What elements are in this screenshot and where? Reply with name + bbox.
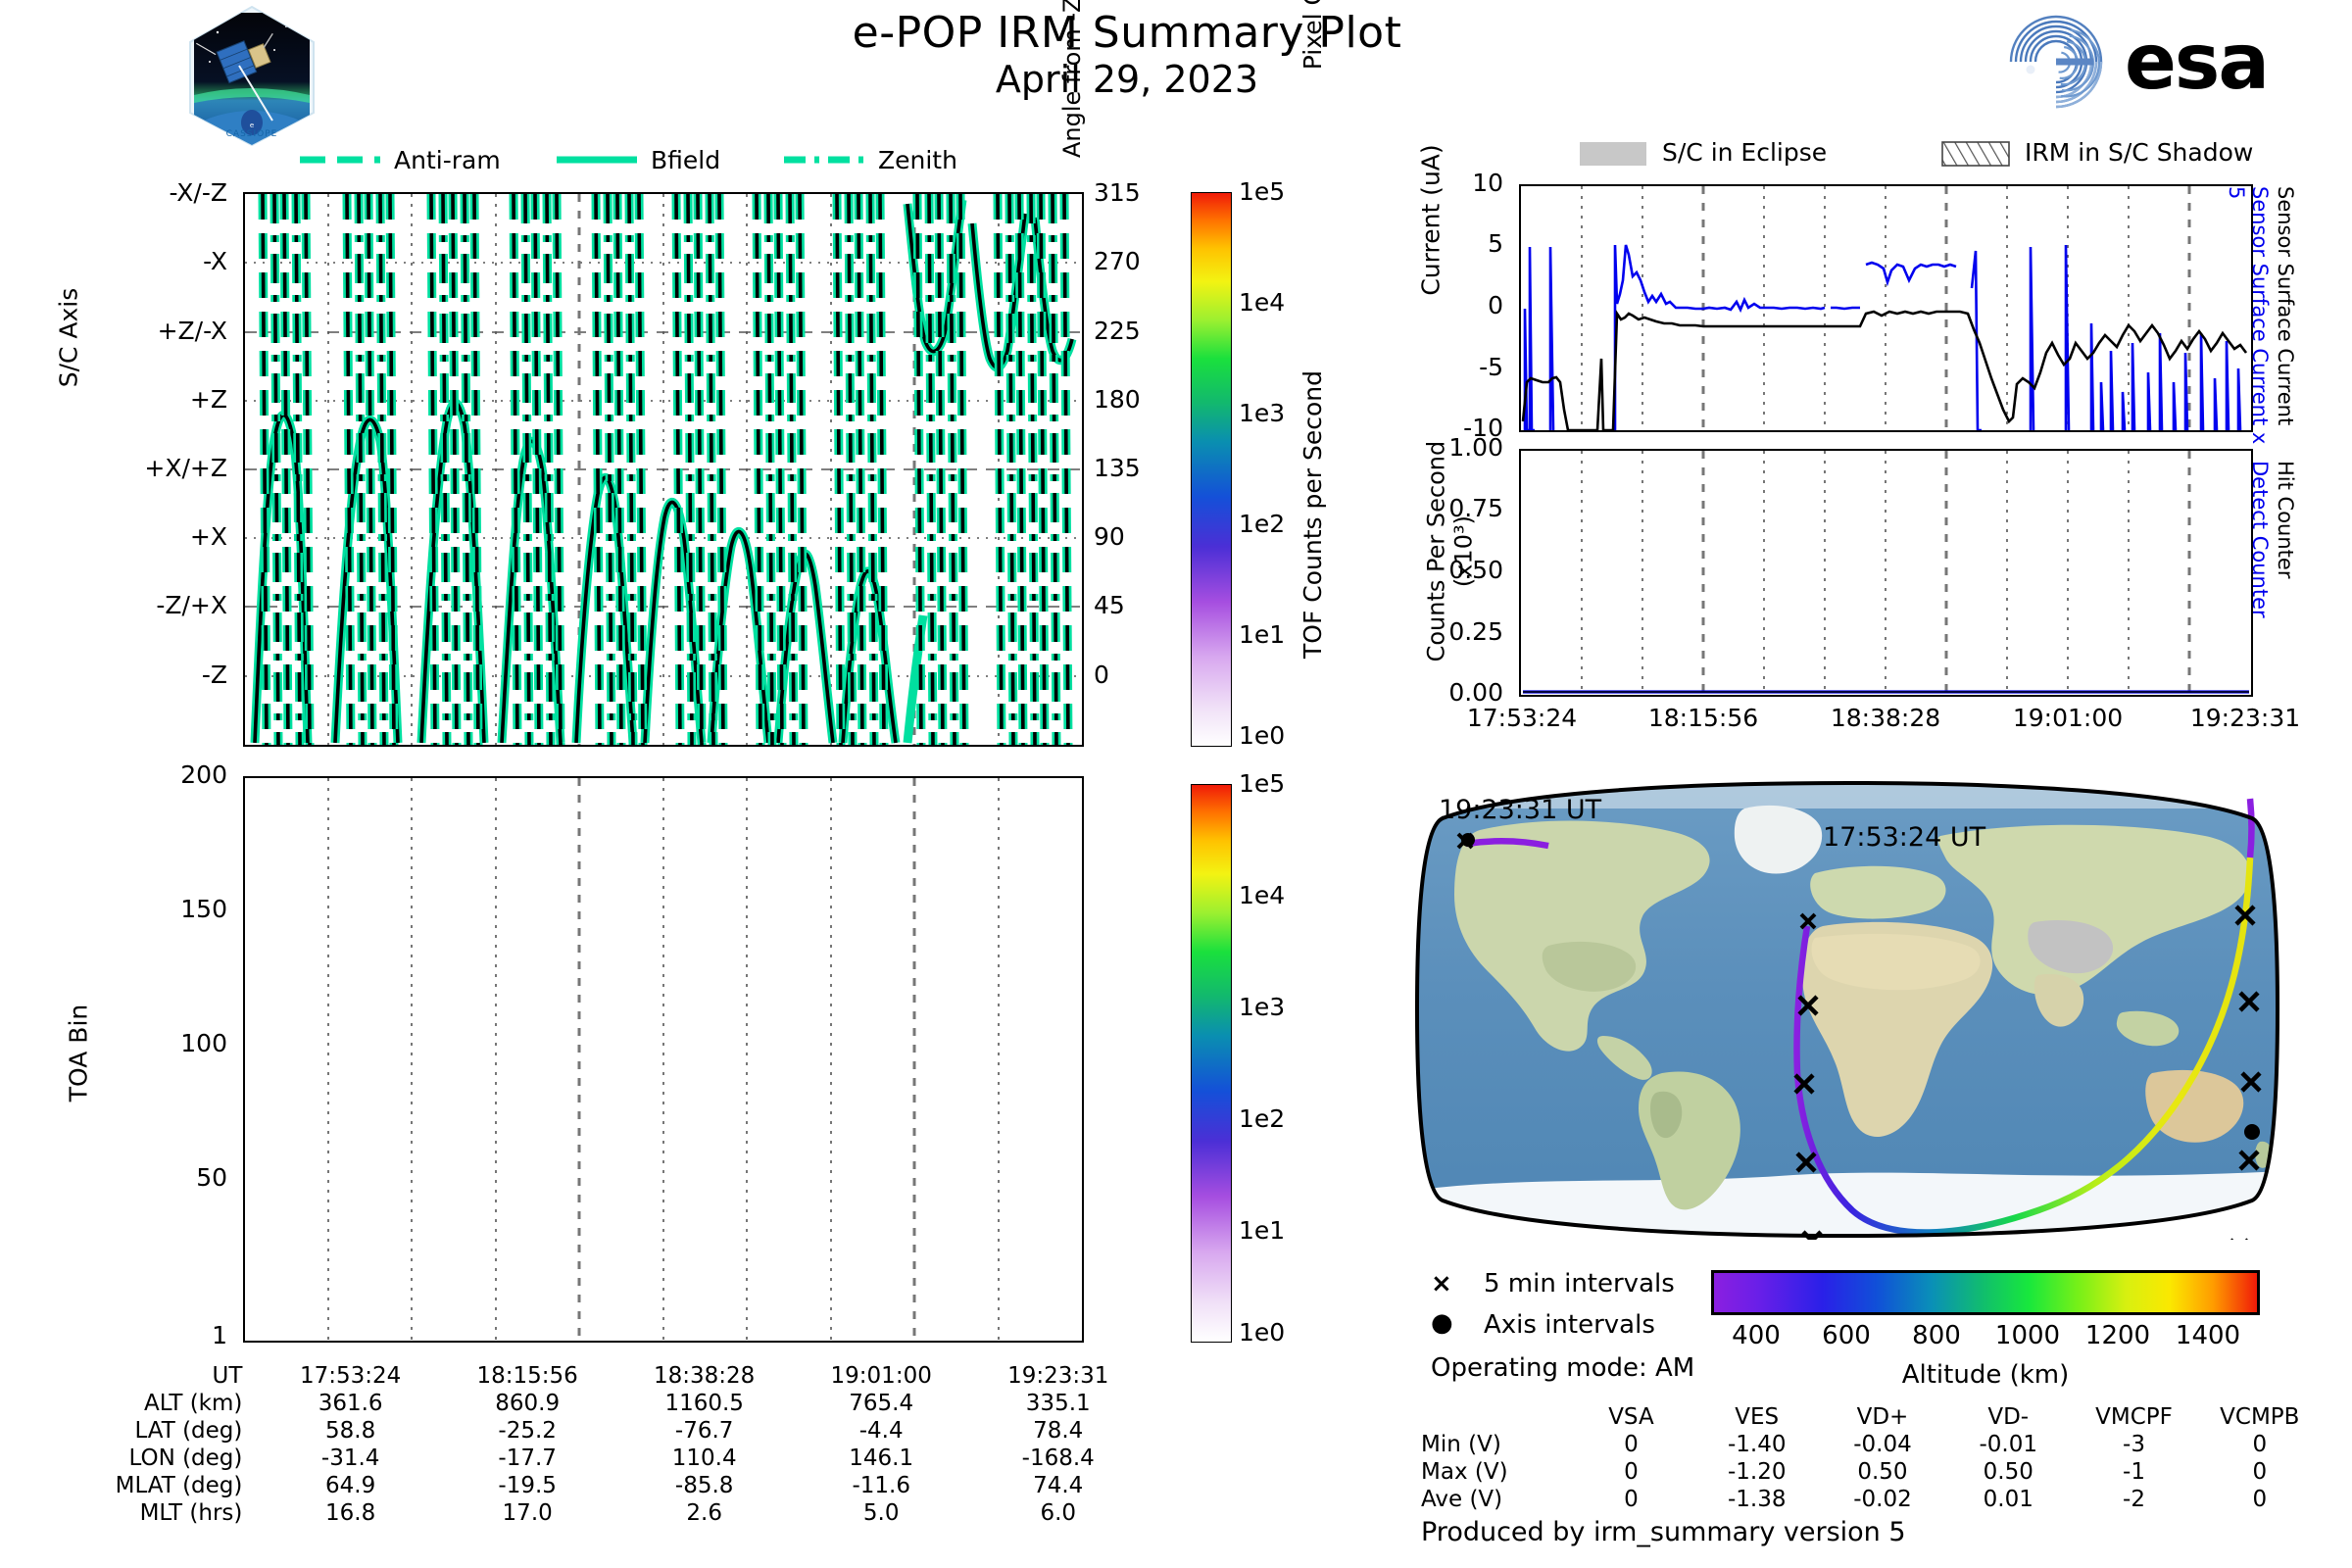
colorbar-tof-ticks: 1e5 1e4 1e3 1e2 1e1 1e0	[1239, 784, 1327, 1343]
cell: 19:01:00	[793, 1362, 970, 1390]
five-min-legend-label: 5 min intervals	[1484, 1269, 1675, 1298]
cell: -19.5	[439, 1472, 616, 1499]
ytick-sc-5: +X	[190, 522, 227, 551]
axis-interval-legend-label: Axis intervals	[1484, 1310, 1655, 1340]
panel-sc-axis-plot	[243, 192, 1084, 747]
ytick-angle-0: 315	[1094, 178, 1141, 207]
panel-current-right-label-blue: Sensor Surface Current x 5	[2225, 186, 2272, 461]
voltage-table: VSA VES VD+ VD- VMCPF VCMPB Min (V) 0 -1…	[1421, 1403, 2323, 1513]
cell: 6.0	[969, 1499, 1147, 1527]
ytick-angle-2: 225	[1094, 317, 1141, 345]
row-label: Min (V)	[1421, 1431, 1568, 1458]
cell: 0	[2197, 1458, 2323, 1486]
cell: -1.20	[1694, 1458, 1820, 1486]
row-label: Max (V)	[1421, 1458, 1568, 1486]
panel-counts-yticks: 1.00 0.75 0.50 0.25 0.00	[1401, 449, 1511, 697]
table-row: Ave (V) 0 -1.38 -0.02 0.01 -2 0	[1421, 1486, 2323, 1513]
current-traces	[1521, 186, 2251, 430]
table-row: Min (V) 0 -1.40 -0.04 -0.01 -3 0	[1421, 1431, 2323, 1458]
ytick-cnt-1: 0.75	[1448, 494, 1503, 522]
ytick-angle-4: 135	[1094, 454, 1141, 482]
cell: 765.4	[793, 1390, 970, 1417]
cbtick-tof-2: 1e3	[1239, 993, 1285, 1021]
panel-sc-axis-yticks-right: 315 270 225 180 135 90 45 0	[1094, 192, 1182, 747]
panel-counts-right-label-blue: Detect Counter	[2248, 461, 2272, 715]
col-header: VSA	[1568, 1403, 1693, 1431]
cell: -0.02	[1820, 1486, 1945, 1513]
ytick-toa-4: 1	[212, 1321, 227, 1349]
axis-interval-icon: ●	[1431, 1308, 1453, 1338]
cell: -168.4	[969, 1445, 1147, 1472]
cell: 64.9	[262, 1472, 439, 1499]
ytick-sc-1: -X	[203, 247, 227, 275]
cbtick-pixel-4: 1e1	[1239, 620, 1285, 649]
cbtick-tof-3: 1e2	[1239, 1104, 1285, 1133]
esa-logo: esa	[1999, 8, 2323, 116]
altitude-colorbar-label: Altitude (km)	[1711, 1360, 2260, 1390]
ytick-angle-5: 90	[1094, 522, 1125, 551]
col-header: VD+	[1820, 1403, 1945, 1431]
map-label-start: 17:53:24 UT	[1823, 822, 1985, 853]
colorbar-pixel-counts	[1191, 192, 1232, 747]
xtick-r-2: 18:38:28	[1812, 704, 1959, 732]
cell: 2.6	[615, 1499, 793, 1527]
table-row: ALT (km) 361.6 860.9 1160.5 765.4 335.1	[59, 1390, 1147, 1417]
cassiope-mission-patch: e CASSIOPE	[188, 5, 316, 147]
cbtick-pixel-0: 1e5	[1239, 177, 1285, 206]
ytick-sc-3: +Z	[190, 385, 227, 414]
legend-swatch-shadow	[1942, 142, 2009, 166]
colorbar-tof-counts	[1191, 784, 1232, 1343]
cell: -11.6	[793, 1472, 970, 1499]
altick-1: 600	[1807, 1321, 1886, 1350]
footer-produced-by: Produced by irm_summary version 5	[1421, 1517, 1906, 1547]
panel-current-right-label-black: Sensor Surface Current	[2274, 186, 2297, 461]
cell: 860.9	[439, 1390, 616, 1417]
cell: 0.50	[1820, 1458, 1945, 1486]
title-text: e-POP IRM Summary Plot	[686, 8, 1568, 58]
cell: 17:53:24	[262, 1362, 439, 1390]
mission-patch-label: CASSIOPE	[226, 129, 278, 139]
table-row: MLAT (deg) 64.9 -19.5 -85.8 -11.6 74.4	[59, 1472, 1147, 1499]
cell: 335.1	[969, 1390, 1147, 1417]
table-header-row: VSA VES VD+ VD- VMCPF VCMPB	[1421, 1403, 2323, 1431]
ground-track-map: 19:23:31 UT 17:53:24 UT	[1411, 779, 2283, 1240]
cell: -17.7	[439, 1445, 616, 1472]
xtick-r-0: 17:53:24	[1448, 704, 1595, 732]
ytick-sc-4: +X/+Z	[144, 454, 227, 482]
cell: -1.40	[1694, 1431, 1820, 1458]
table-row: UT 17:53:24 18:15:56 18:38:28 19:01:00 1…	[59, 1362, 1147, 1390]
col-header: VD-	[1945, 1403, 2071, 1431]
cell: 18:38:28	[615, 1362, 793, 1390]
cell: -1	[2071, 1458, 2196, 1486]
legend-label-shadow: IRM in S/C Shadow	[2025, 138, 2253, 167]
xtick-r-1: 18:15:56	[1630, 704, 1777, 732]
cell: -31.4	[262, 1445, 439, 1472]
table-row: LON (deg) -31.4 -17.7 110.4 146.1 -168.4	[59, 1445, 1147, 1472]
cell: 0	[1568, 1431, 1693, 1458]
legend-label-anti-ram: Anti-ram	[394, 146, 501, 174]
ytick-toa-0: 200	[180, 760, 227, 789]
ytick-sc-7: -Z	[202, 661, 227, 689]
legend-label-eclipse: S/C in Eclipse	[1662, 138, 1827, 167]
ytick-cur-0: 10	[1472, 169, 1503, 197]
ytick-angle-6: 45	[1094, 591, 1125, 619]
cell: 17.0	[439, 1499, 616, 1527]
cell: 74.4	[969, 1472, 1147, 1499]
altitude-colorbar	[1711, 1270, 2260, 1315]
ytick-sc-0: -X/-Z	[170, 178, 227, 207]
cell: 0	[2197, 1431, 2323, 1458]
cell: -25.2	[439, 1417, 616, 1445]
cell: 0	[1568, 1486, 1693, 1513]
xtick-r-3: 19:01:00	[1994, 704, 2141, 732]
cell: 78.4	[969, 1417, 1147, 1445]
ytick-cur-1: 5	[1488, 229, 1503, 258]
cell: 110.4	[615, 1445, 793, 1472]
row-label: LON (deg)	[59, 1445, 262, 1472]
ytick-cur-2: 0	[1488, 291, 1503, 319]
panel-toa-plot	[243, 776, 1084, 1343]
cell: 18:15:56	[439, 1362, 616, 1390]
panel-current-yticks: 10 5 0 -5 -10	[1421, 184, 1511, 432]
panel-sc-axis-yticks: -X/-Z -X +Z/-X +Z +X/+Z +X -Z/+X -Z	[108, 192, 235, 747]
cbtick-pixel-3: 1e2	[1239, 510, 1285, 538]
cbtick-pixel-2: 1e3	[1239, 399, 1285, 427]
altick-2: 800	[1897, 1321, 1976, 1350]
cell: -3	[2071, 1431, 2196, 1458]
legend-label-zenith: Zenith	[878, 146, 957, 174]
cbtick-tof-4: 1e1	[1239, 1216, 1285, 1245]
cell: 146.1	[793, 1445, 970, 1472]
cell: -0.04	[1820, 1431, 1945, 1458]
cell: 58.8	[262, 1417, 439, 1445]
cell: 0	[1568, 1458, 1693, 1486]
ytick-cnt-0: 1.00	[1448, 433, 1503, 462]
col-header: VCMPB	[2197, 1403, 2323, 1431]
colorbar-pixel-label: Pixel Counts per Second	[1298, 0, 1327, 196]
table-row: MLT (hrs) 16.8 17.0 2.6 5.0 6.0	[59, 1499, 1147, 1527]
row-label: Ave (V)	[1421, 1486, 1568, 1513]
cell: -1.38	[1694, 1486, 1820, 1513]
altick-5: 1400	[2166, 1321, 2250, 1350]
cell: 0.50	[1945, 1458, 2071, 1486]
page-title: e-POP IRM Summary Plot April 29, 2023	[686, 8, 1568, 101]
ytick-cur-3: -5	[1479, 353, 1503, 381]
cell: 1160.5	[615, 1390, 793, 1417]
ytick-toa-1: 150	[180, 895, 227, 923]
row-label: MLT (hrs)	[59, 1499, 262, 1527]
esa-wordmark: esa	[2125, 19, 2268, 107]
altick-3: 1000	[1985, 1321, 2070, 1350]
cell: 0	[2197, 1486, 2323, 1513]
svg-text:e: e	[250, 122, 254, 129]
legend-sc-axis: Anti-ram Bfield Zenith	[294, 145, 1019, 174]
ytick-angle-1: 270	[1094, 247, 1141, 275]
cell: -85.8	[615, 1472, 793, 1499]
ephemeris-table: UT 17:53:24 18:15:56 18:38:28 19:01:00 1…	[59, 1362, 1147, 1527]
cell: -0.01	[1945, 1431, 2071, 1458]
cbtick-pixel-1: 1e4	[1239, 288, 1285, 317]
col-header: VMCPF	[2071, 1403, 2196, 1431]
legend-swatch-eclipse	[1580, 142, 1646, 166]
panel-counts-right-label-black: Hit Counter	[2274, 461, 2297, 715]
row-label: UT	[59, 1362, 262, 1390]
cbtick-tof-0: 1e5	[1239, 769, 1285, 798]
panel-sc-axis-ylabel: S/C Axis	[55, 240, 83, 436]
ytick-cnt-2: 0.50	[1448, 556, 1503, 584]
operating-mode-label: Operating mode: AM	[1431, 1353, 1694, 1383]
five-min-icon: ×	[1431, 1269, 1452, 1298]
cell: -4.4	[793, 1417, 970, 1445]
ytick-angle-7: 0	[1094, 661, 1109, 689]
legend-label-bfield: Bfield	[651, 146, 720, 174]
cell: 0.01	[1945, 1486, 2071, 1513]
cell: -76.7	[615, 1417, 793, 1445]
ytick-sc-6: -Z/+X	[156, 591, 227, 619]
counts-traces	[1521, 451, 2251, 695]
altick-0: 400	[1717, 1321, 1795, 1350]
altick-4: 1200	[2076, 1321, 2160, 1350]
cell: 361.6	[262, 1390, 439, 1417]
cbtick-tof-5: 1e0	[1239, 1318, 1285, 1347]
ytick-angle-3: 180	[1094, 385, 1141, 414]
legend-eclipse-shadow: S/C in Eclipse IRM in S/C Shadow	[1578, 137, 2283, 171]
ytick-sc-2: +Z/-X	[158, 317, 227, 345]
panel-sc-axis-right-label: Angle from -Z axis (towards +X axis)	[1058, 0, 1086, 206]
cell: -2	[2071, 1486, 2196, 1513]
panel-toa-ylabel: TOA Bin	[65, 926, 93, 1181]
sc-axis-traces	[245, 194, 1082, 745]
ytick-toa-2: 100	[180, 1029, 227, 1057]
row-label: LAT (deg)	[59, 1417, 262, 1445]
xtick-r-4: 19:23:31	[2172, 704, 2319, 732]
panel-current-plot	[1519, 184, 2253, 432]
cell: 19:23:31	[969, 1362, 1147, 1390]
row-label: MLAT (deg)	[59, 1472, 262, 1499]
ytick-toa-3: 50	[196, 1163, 227, 1192]
colorbar-tof-label: TOF Counts per Second	[1298, 240, 1327, 789]
cell: 5.0	[793, 1499, 970, 1527]
panel-counts-plot	[1519, 449, 2253, 697]
cell: 16.8	[262, 1499, 439, 1527]
ytick-cnt-4: 0.00	[1448, 678, 1503, 707]
col-header: VES	[1694, 1403, 1820, 1431]
toa-spectrogram	[245, 778, 1082, 1341]
ytick-cnt-3: 0.25	[1448, 617, 1503, 646]
cbtick-tof-1: 1e4	[1239, 881, 1285, 909]
row-label: ALT (km)	[59, 1390, 262, 1417]
map-label-end: 19:23:31 UT	[1439, 795, 1601, 825]
panel-toa-yticks: 200 150 100 50 1	[127, 776, 235, 1343]
table-row: LAT (deg) 58.8 -25.2 -76.7 -4.4 78.4	[59, 1417, 1147, 1445]
altitude-colorbar-ticks: 400 600 800 1000 1200 1400	[1711, 1321, 2260, 1354]
table-row: Max (V) 0 -1.20 0.50 0.50 -1 0	[1421, 1458, 2323, 1486]
cbtick-pixel-5: 1e0	[1239, 721, 1285, 750]
right-panels-xticks: 17:53:24 18:15:56 18:38:28 19:01:00 19:2…	[1519, 704, 2253, 739]
